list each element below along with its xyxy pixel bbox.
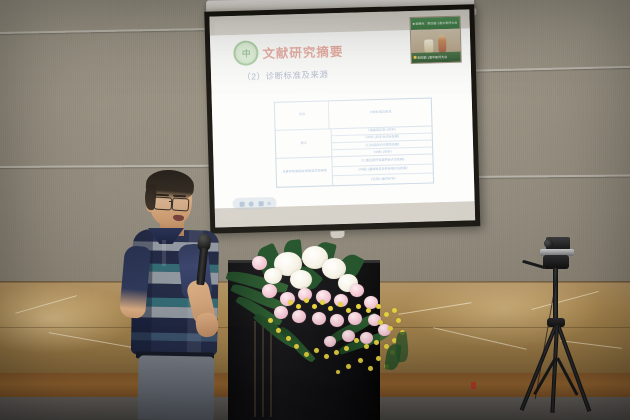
- presenter-placket: [162, 240, 166, 266]
- pip-footer-text: 第四届儿童中医药大会: [417, 55, 447, 60]
- glasses-icon: [154, 196, 173, 210]
- microphone-icon[interactable]: [249, 201, 254, 206]
- badge-icon: [413, 56, 416, 59]
- camera-icon[interactable]: [239, 201, 244, 206]
- tripod-head: [543, 255, 569, 269]
- slide-subtitle: （2）诊断标准及来源: [242, 68, 329, 82]
- conference-presentation-photo: 中 文献研究摘要 （2）诊断标准及来源 疾病 诊断标准及来源 肺炎: [0, 0, 630, 420]
- projection-screen: 中 文献研究摘要 （2）诊断标准及来源 疾病 诊断标准及来源 肺炎: [196, 0, 481, 251]
- floral-arrangement: [228, 240, 433, 380]
- presenter: [118, 168, 238, 420]
- table-header-row: 疾病 诊断标准及来源: [275, 98, 432, 131]
- glasses-icon: [172, 197, 190, 211]
- pip-header-text: 直播间：第四届儿童中医药大会: [415, 21, 457, 26]
- microphone-body: [196, 248, 208, 286]
- table-header-cell: 诊断标准及来源: [329, 98, 432, 128]
- presenter-trousers: [137, 355, 214, 420]
- meeting-control-bar[interactable]: [233, 197, 278, 210]
- table-cell: 《实用儿童内科学》: [333, 174, 433, 185]
- pip-foreground-object: [424, 39, 433, 52]
- glasses-bridge: [169, 201, 173, 202]
- projected-slide: 中 文献研究摘要 （2）诊断标准及来源 疾病 诊断标准及来源 肺炎: [209, 9, 475, 227]
- share-screen-icon[interactable]: [258, 201, 263, 206]
- more-icon[interactable]: [268, 202, 271, 205]
- live-dot-icon: [412, 23, 414, 25]
- emblem-glyph: 中: [242, 47, 251, 60]
- floor-marker-icon: [471, 382, 476, 389]
- table-category-cell: 反复呼吸道感染/咳嗽变异性哮喘: [277, 158, 334, 187]
- table-header-cell: 疾病: [275, 101, 330, 130]
- slide-table: 疾病 诊断标准及来源 肺炎 《诸福棠实用儿科学》 《中华儿科学会诊治指南》 《儿…: [274, 97, 434, 188]
- screen-pull-tab[interactable]: [330, 231, 344, 238]
- slide-title: 文献研究摘要: [262, 41, 344, 62]
- table-row: 肺炎 《诸福棠实用儿科学》 《中华儿科学会诊治指南》 《儿科疾病诊疗规范指南》 …: [276, 126, 433, 159]
- screen-black-border: 中 文献研究摘要 （2）诊断标准及来源 疾病 诊断标准及来源 肺炎: [204, 4, 480, 233]
- picture-in-picture-video[interactable]: 直播间：第四届儿童中医药大会 第四届儿童中医药大会: [409, 16, 462, 64]
- pip-person: [438, 35, 446, 53]
- table-row: 反复呼吸道感染/咳嗽变异性哮喘 《儿童反复呼吸道感染诊治指南》 《中国儿童咳嗽变…: [277, 155, 434, 187]
- table-category-cell: 肺炎: [276, 129, 333, 158]
- video-camera-on-tripod: [516, 230, 606, 420]
- camera-lens-icon: [544, 239, 553, 248]
- screen-surface: 中 文献研究摘要 （2）诊断标准及来源 疾病 诊断标准及来源 肺炎: [209, 9, 475, 227]
- pip-footer-bar: 第四届儿童中医药大会: [411, 52, 461, 63]
